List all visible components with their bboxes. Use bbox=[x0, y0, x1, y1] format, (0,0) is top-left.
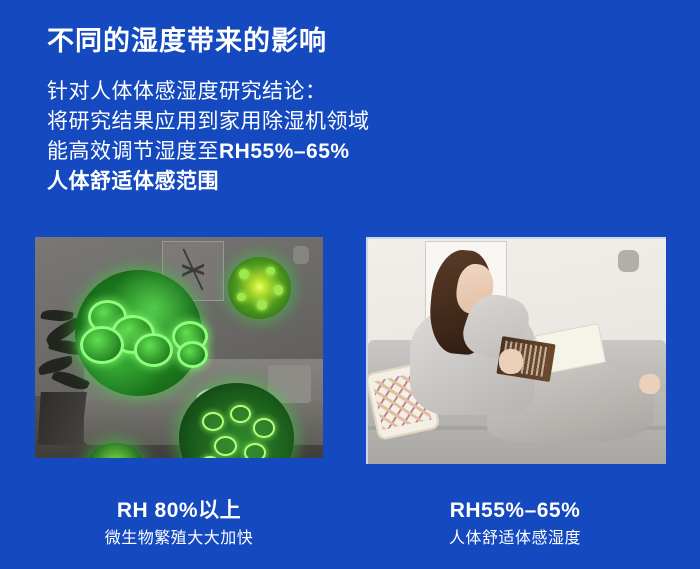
caption-comfort-humidity: RH55%–65% 人体舒适体感湿度 bbox=[366, 498, 664, 551]
body-line-1: 针对人体体感湿度研究结论： bbox=[47, 77, 370, 107]
caption-subtitle: 微生物繁殖大大加快 bbox=[35, 527, 323, 551]
caption-title: RH 80%以上 bbox=[35, 498, 323, 524]
body-copy-block: 针对人体体感湿度研究结论： 将研究结果应用到家用除湿机领域 能高效调节湿度至RH… bbox=[47, 77, 370, 197]
caption-subtitle: 人体舒适体感湿度 bbox=[366, 527, 664, 551]
page-title: 不同的湿度带来的影响 bbox=[47, 19, 327, 58]
wall-switch-icon bbox=[618, 250, 639, 272]
dark-living-room-illustration bbox=[35, 237, 323, 458]
body-line-3-highlight: RH55%–65% bbox=[219, 140, 350, 163]
wall-switch-icon bbox=[293, 246, 309, 264]
photo-panel-high-humidity bbox=[35, 237, 323, 458]
humidity-comparison-poster: 不同的湿度带来的影响 针对人体体感湿度研究结论： 将研究结果应用到家用除湿机领域… bbox=[0, 0, 700, 569]
plant-pot bbox=[38, 392, 87, 445]
body-line-4: 人体舒适体感范围 bbox=[47, 167, 370, 197]
bright-living-room-illustration bbox=[368, 239, 666, 464]
body-line-3: 能高效调节湿度至RH55%–65% bbox=[47, 137, 370, 167]
microbe-cluster-large-icon bbox=[75, 270, 202, 396]
body-line-3-prefix: 能高效调节湿度至 bbox=[47, 140, 219, 163]
body-line-2: 将研究结果应用到家用除湿机领域 bbox=[47, 107, 370, 137]
photo-panel-comfort-humidity bbox=[366, 237, 666, 464]
caption-high-humidity: RH 80%以上 微生物繁殖大大加快 bbox=[35, 498, 323, 551]
person-hand bbox=[499, 349, 523, 374]
microbe-cluster-wall-icon bbox=[228, 257, 291, 319]
person-foot bbox=[639, 374, 660, 394]
caption-title: RH55%–65% bbox=[366, 498, 664, 524]
